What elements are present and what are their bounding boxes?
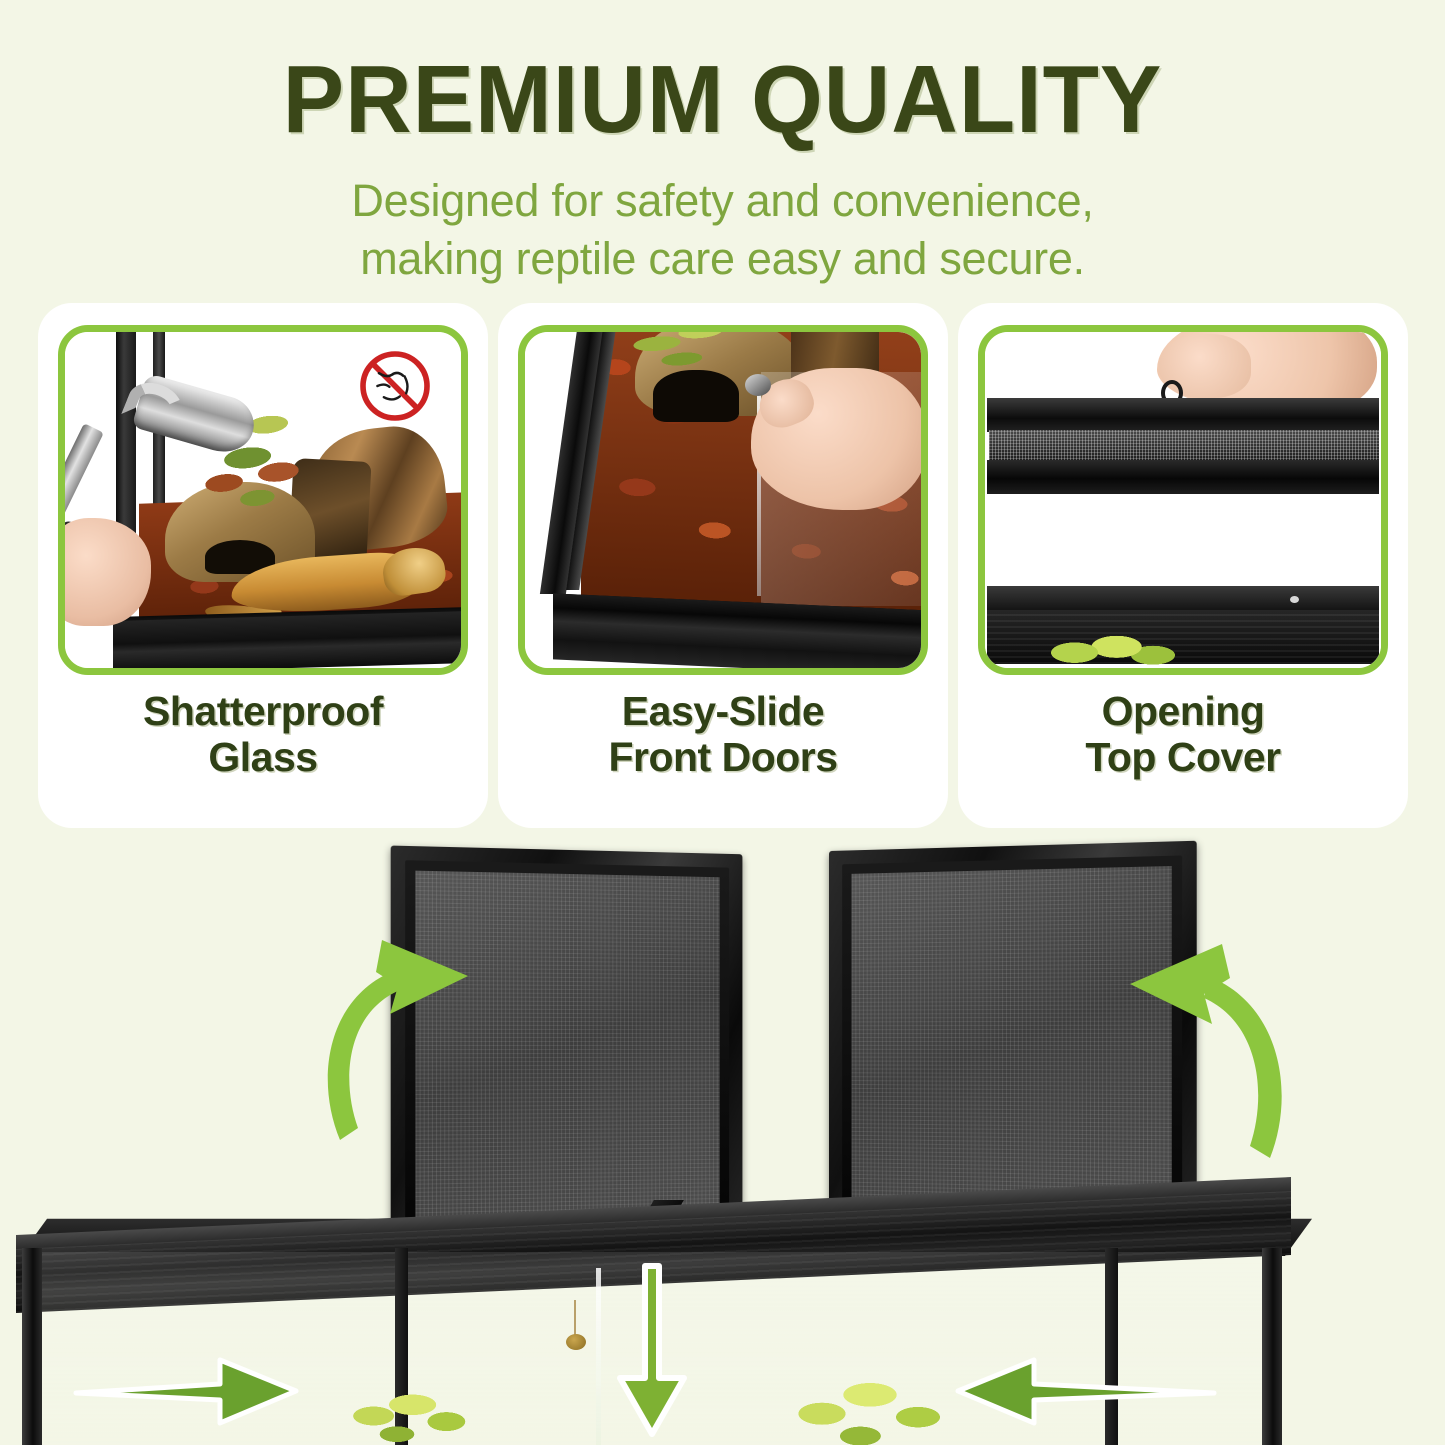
subtitle-line-1: Designed for safety and convenience,: [0, 172, 1445, 230]
tank-front-glass: [34, 1252, 1274, 1445]
feature-photo-opening-top-cover: [978, 325, 1388, 675]
fake-plant-right: [790, 1369, 950, 1445]
feature-photo-shatterproof-glass: [58, 325, 468, 675]
rim-screw: [1290, 596, 1299, 603]
hand-holding-hammer: [58, 518, 151, 626]
label-line-2: Glass: [143, 735, 383, 781]
fake-plant-decor: [1041, 630, 1181, 672]
tank-right-post: [1262, 1248, 1282, 1445]
lid-inner-frame: [405, 860, 729, 1228]
feature-card-label: Opening Top Cover: [1085, 689, 1280, 781]
page-subtitle: Designed for safety and convenience, mak…: [0, 172, 1445, 287]
tank-mid-post-right: [1105, 1248, 1118, 1445]
header: PREMIUM QUALITY Designed for safety and …: [0, 0, 1445, 287]
feature-card-opening-top-cover[interactable]: Opening Top Cover: [958, 303, 1408, 828]
feature-card-label: Easy-Slide Front Doors: [608, 689, 837, 781]
label-line-1: Easy-Slide: [608, 689, 837, 735]
mesh-top-panel-right[interactable]: [829, 841, 1197, 1240]
sliding-door-seam: [596, 1268, 601, 1445]
top-cover-edge: [987, 460, 1379, 494]
tank-base-frame: [113, 611, 468, 673]
top-cover-mesh: [989, 430, 1379, 462]
lid-mesh-screen: [415, 871, 719, 1218]
page-title: PREMIUM QUALITY: [29, 52, 1416, 148]
product-scene: [0, 828, 1445, 1445]
latch-wire: [574, 1300, 576, 1336]
door-lock-latch[interactable]: [566, 1334, 586, 1350]
label-line-1: Shatterproof: [143, 689, 383, 735]
feature-photo-easy-slide-doors: [518, 325, 928, 675]
feature-cards: Shatterproof Glass Easy-Slide Front Door…: [38, 303, 1408, 828]
label-line-2: Front Doors: [608, 735, 837, 781]
photo-gap: [985, 494, 1381, 586]
label-line-1: Opening: [1085, 689, 1280, 735]
top-cover-frame: [987, 398, 1379, 432]
feature-card-label: Shatterproof Glass: [143, 689, 383, 781]
no-crack-icon: [355, 346, 435, 426]
mesh-top-panel-left[interactable]: [391, 846, 743, 1243]
fake-plant-left: [345, 1381, 475, 1445]
feature-card-easy-slide-front-doors[interactable]: Easy-Slide Front Doors: [498, 303, 948, 828]
tank-left-post: [22, 1248, 42, 1445]
feature-card-shatterproof-glass[interactable]: Shatterproof Glass: [38, 303, 488, 828]
door-knob: [745, 374, 771, 396]
subtitle-line-2: making reptile care easy and secure.: [0, 230, 1445, 288]
lid-mesh-screen: [852, 866, 1172, 1214]
tank-rim-upper: [987, 586, 1379, 612]
lid-inner-frame: [842, 855, 1182, 1224]
label-line-2: Top Cover: [1085, 735, 1280, 781]
